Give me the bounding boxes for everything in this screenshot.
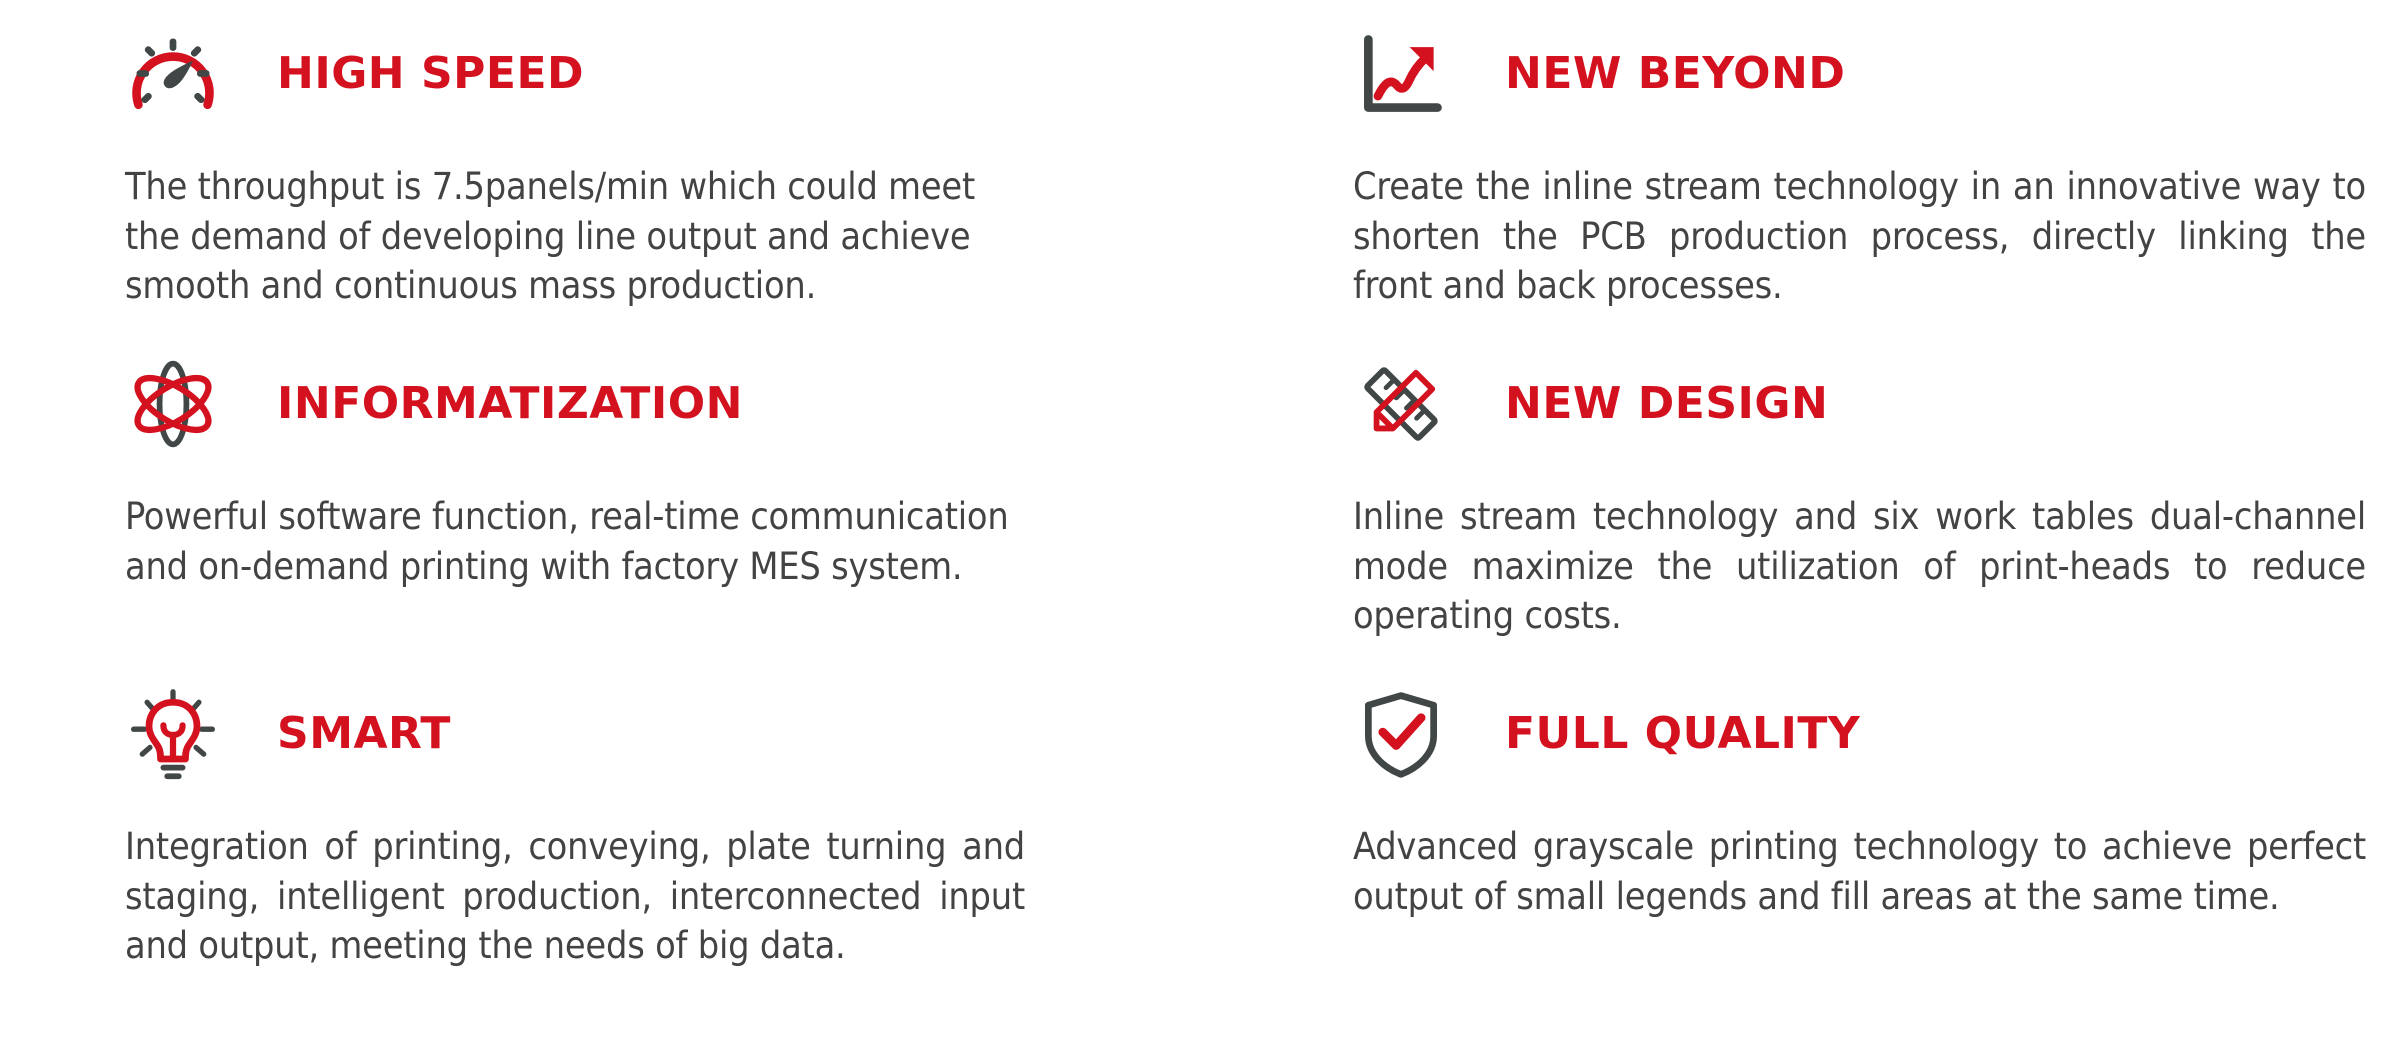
feature-description: Advanced grayscale printing technology t…: [1353, 822, 2366, 921]
feature-header: HIGH SPEED: [125, 18, 1135, 130]
shield-check-icon: [1353, 686, 1449, 782]
feature-header: NEW DESIGN: [1353, 348, 2366, 460]
feature-header: NEW BEYOND: [1353, 18, 2366, 130]
feature-card-informatization: INFORMATIZATION Powerful software functi…: [0, 348, 1175, 678]
feature-title: FULL QUALITY: [1505, 712, 1860, 756]
feature-card-new-beyond: NEW BEYOND Create the inline stream tech…: [1231, 18, 2406, 348]
feature-title: NEW DESIGN: [1505, 382, 1828, 426]
feature-title: INFORMATIZATION: [277, 382, 743, 426]
growth-chart-icon: [1353, 26, 1449, 122]
feature-title: HIGH SPEED: [277, 52, 584, 96]
feature-title: SMART: [277, 712, 451, 756]
feature-card-high-speed: HIGH SPEED The throughput is 7.5panels/m…: [0, 18, 1175, 348]
feature-description: The throughput is 7.5panels/min which co…: [125, 162, 1025, 311]
feature-title: NEW BEYOND: [1505, 52, 1845, 96]
feature-header: SMART: [125, 678, 1135, 790]
feature-description: Integration of printing, conveying, plat…: [125, 822, 1025, 971]
feature-header: FULL QUALITY: [1353, 678, 2366, 790]
feature-grid: HIGH SPEED The throughput is 7.5panels/m…: [0, 0, 2406, 1049]
feature-header: INFORMATIZATION: [125, 348, 1135, 460]
lightbulb-icon: [125, 686, 221, 782]
atom-icon: [125, 356, 221, 452]
feature-card-full-quality: FULL QUALITY Advanced grayscale printing…: [1231, 678, 2406, 1008]
speedometer-icon: [125, 26, 221, 122]
feature-description: Inline stream technology and six work ta…: [1353, 492, 2366, 641]
feature-card-new-design: NEW DESIGN Inline stream technology and …: [1231, 348, 2406, 678]
feature-description: Powerful software function, real-time co…: [125, 492, 1025, 591]
pencil-ruler-icon: [1353, 356, 1449, 452]
feature-card-smart: SMART Integration of printing, conveying…: [0, 678, 1175, 1008]
feature-description: Create the inline stream technology in a…: [1353, 162, 2366, 311]
